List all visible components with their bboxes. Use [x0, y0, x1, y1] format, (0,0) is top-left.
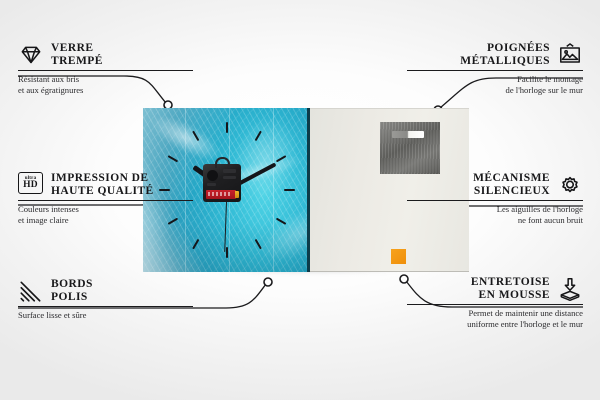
- feature-entretoise-en-mousse: ENTRETOISE EN MOUSSE Permet de maintenir…: [407, 276, 583, 329]
- mechanism-hanging-loop: [215, 157, 230, 168]
- divider: [407, 70, 583, 71]
- feature-header: BORDS POLIS: [18, 278, 193, 304]
- feature-title-line1: ENTRETOISE: [471, 276, 550, 289]
- feature-header: ENTRETOISE EN MOUSSE: [407, 276, 583, 302]
- divider: [407, 304, 583, 305]
- divider: [18, 200, 193, 201]
- feature-title-line2: SILENCIEUX: [473, 185, 550, 198]
- divider: [407, 200, 583, 201]
- foam-spacer-icon: [557, 276, 583, 302]
- feature-poignees-metalliques: POIGNÉES MÉTALLIQUES Facilite le montage…: [407, 42, 583, 95]
- feature-title-line1: BORDS: [51, 278, 93, 291]
- feature-subtitle-line1: Surface lisse et sûre: [18, 310, 193, 321]
- feature-subtitle-line1: Les aiguilles de l'horloge: [407, 204, 583, 215]
- feature-title-line2: TREMPÉ: [51, 55, 103, 68]
- feature-subtitle-line2: uniforme entre l'horloge et le mur: [407, 319, 583, 330]
- divider: [18, 70, 193, 71]
- picture-hanger-icon: [557, 42, 583, 68]
- feature-header: POIGNÉES MÉTALLIQUES: [407, 42, 583, 68]
- mechanism-vent: [207, 183, 216, 186]
- gear-icon: [557, 172, 583, 198]
- feature-title-line1: POIGNÉES: [460, 42, 550, 55]
- feature-title-line2: EN MOUSSE: [471, 289, 550, 302]
- feature-title-line2: MÉTALLIQUES: [460, 55, 550, 68]
- foam-spacer: [391, 249, 406, 264]
- battery: [206, 190, 236, 199]
- clock-mechanism: [203, 164, 241, 202]
- feature-mecanisme-silencieux: MÉCANISME SILENCIEUX Les aiguilles de l'…: [407, 172, 583, 225]
- feature-header: MÉCANISME SILENCIEUX: [407, 172, 583, 198]
- feature-subtitle-line1: Permet de maintenir une distance: [407, 308, 583, 319]
- hanger-slot: [392, 131, 424, 138]
- infographic-canvas: VERRE TREMPÉ Résistant aux bris et aux é…: [0, 0, 600, 400]
- feature-subtitle-line1: Résistant aux bris: [18, 74, 193, 85]
- feature-subtitle-line2: ne font aucun bruit: [407, 215, 583, 226]
- ultra-hd-icon: ultra HD: [18, 172, 44, 198]
- feature-title-line1: IMPRESSION DE: [51, 172, 154, 185]
- feature-subtitle-line1: Couleurs intenses: [18, 204, 193, 215]
- mechanism-dial-knob: [207, 170, 218, 181]
- feature-bords-polis: BORDS POLIS Surface lisse et sûre: [18, 278, 193, 321]
- feature-impression-haute-qualite: ultra HD IMPRESSION DE HAUTE QUALITÉ Cou…: [18, 172, 193, 225]
- feature-subtitle-line1: Facilite le montage: [407, 74, 583, 85]
- divider: [18, 306, 193, 307]
- feature-subtitle-line2: et image claire: [18, 215, 193, 226]
- feature-subtitle-line2: de l'horloge sur le mur: [407, 85, 583, 96]
- feature-title-line2: POLIS: [51, 291, 93, 304]
- feature-header: ultra HD IMPRESSION DE HAUTE QUALITÉ: [18, 172, 193, 198]
- mechanism-vent: [223, 169, 236, 173]
- polished-edges-icon: [18, 278, 44, 304]
- feature-title-line1: VERRE: [51, 42, 103, 55]
- ultra-hd-icon-bottom-text: HD: [23, 181, 38, 191]
- diamond-icon: [18, 42, 44, 68]
- mechanism-vent: [223, 176, 236, 179]
- metal-hanger-bracket: [380, 122, 440, 174]
- battery-label: [208, 192, 230, 196]
- feature-title-line1: MÉCANISME: [473, 172, 550, 185]
- feature-title-line2: HAUTE QUALITÉ: [51, 185, 154, 198]
- feature-verre-trempe: VERRE TREMPÉ Résistant aux bris et aux é…: [18, 42, 193, 95]
- feature-header: VERRE TREMPÉ: [18, 42, 193, 68]
- feature-subtitle-line2: et aux égratignures: [18, 85, 193, 96]
